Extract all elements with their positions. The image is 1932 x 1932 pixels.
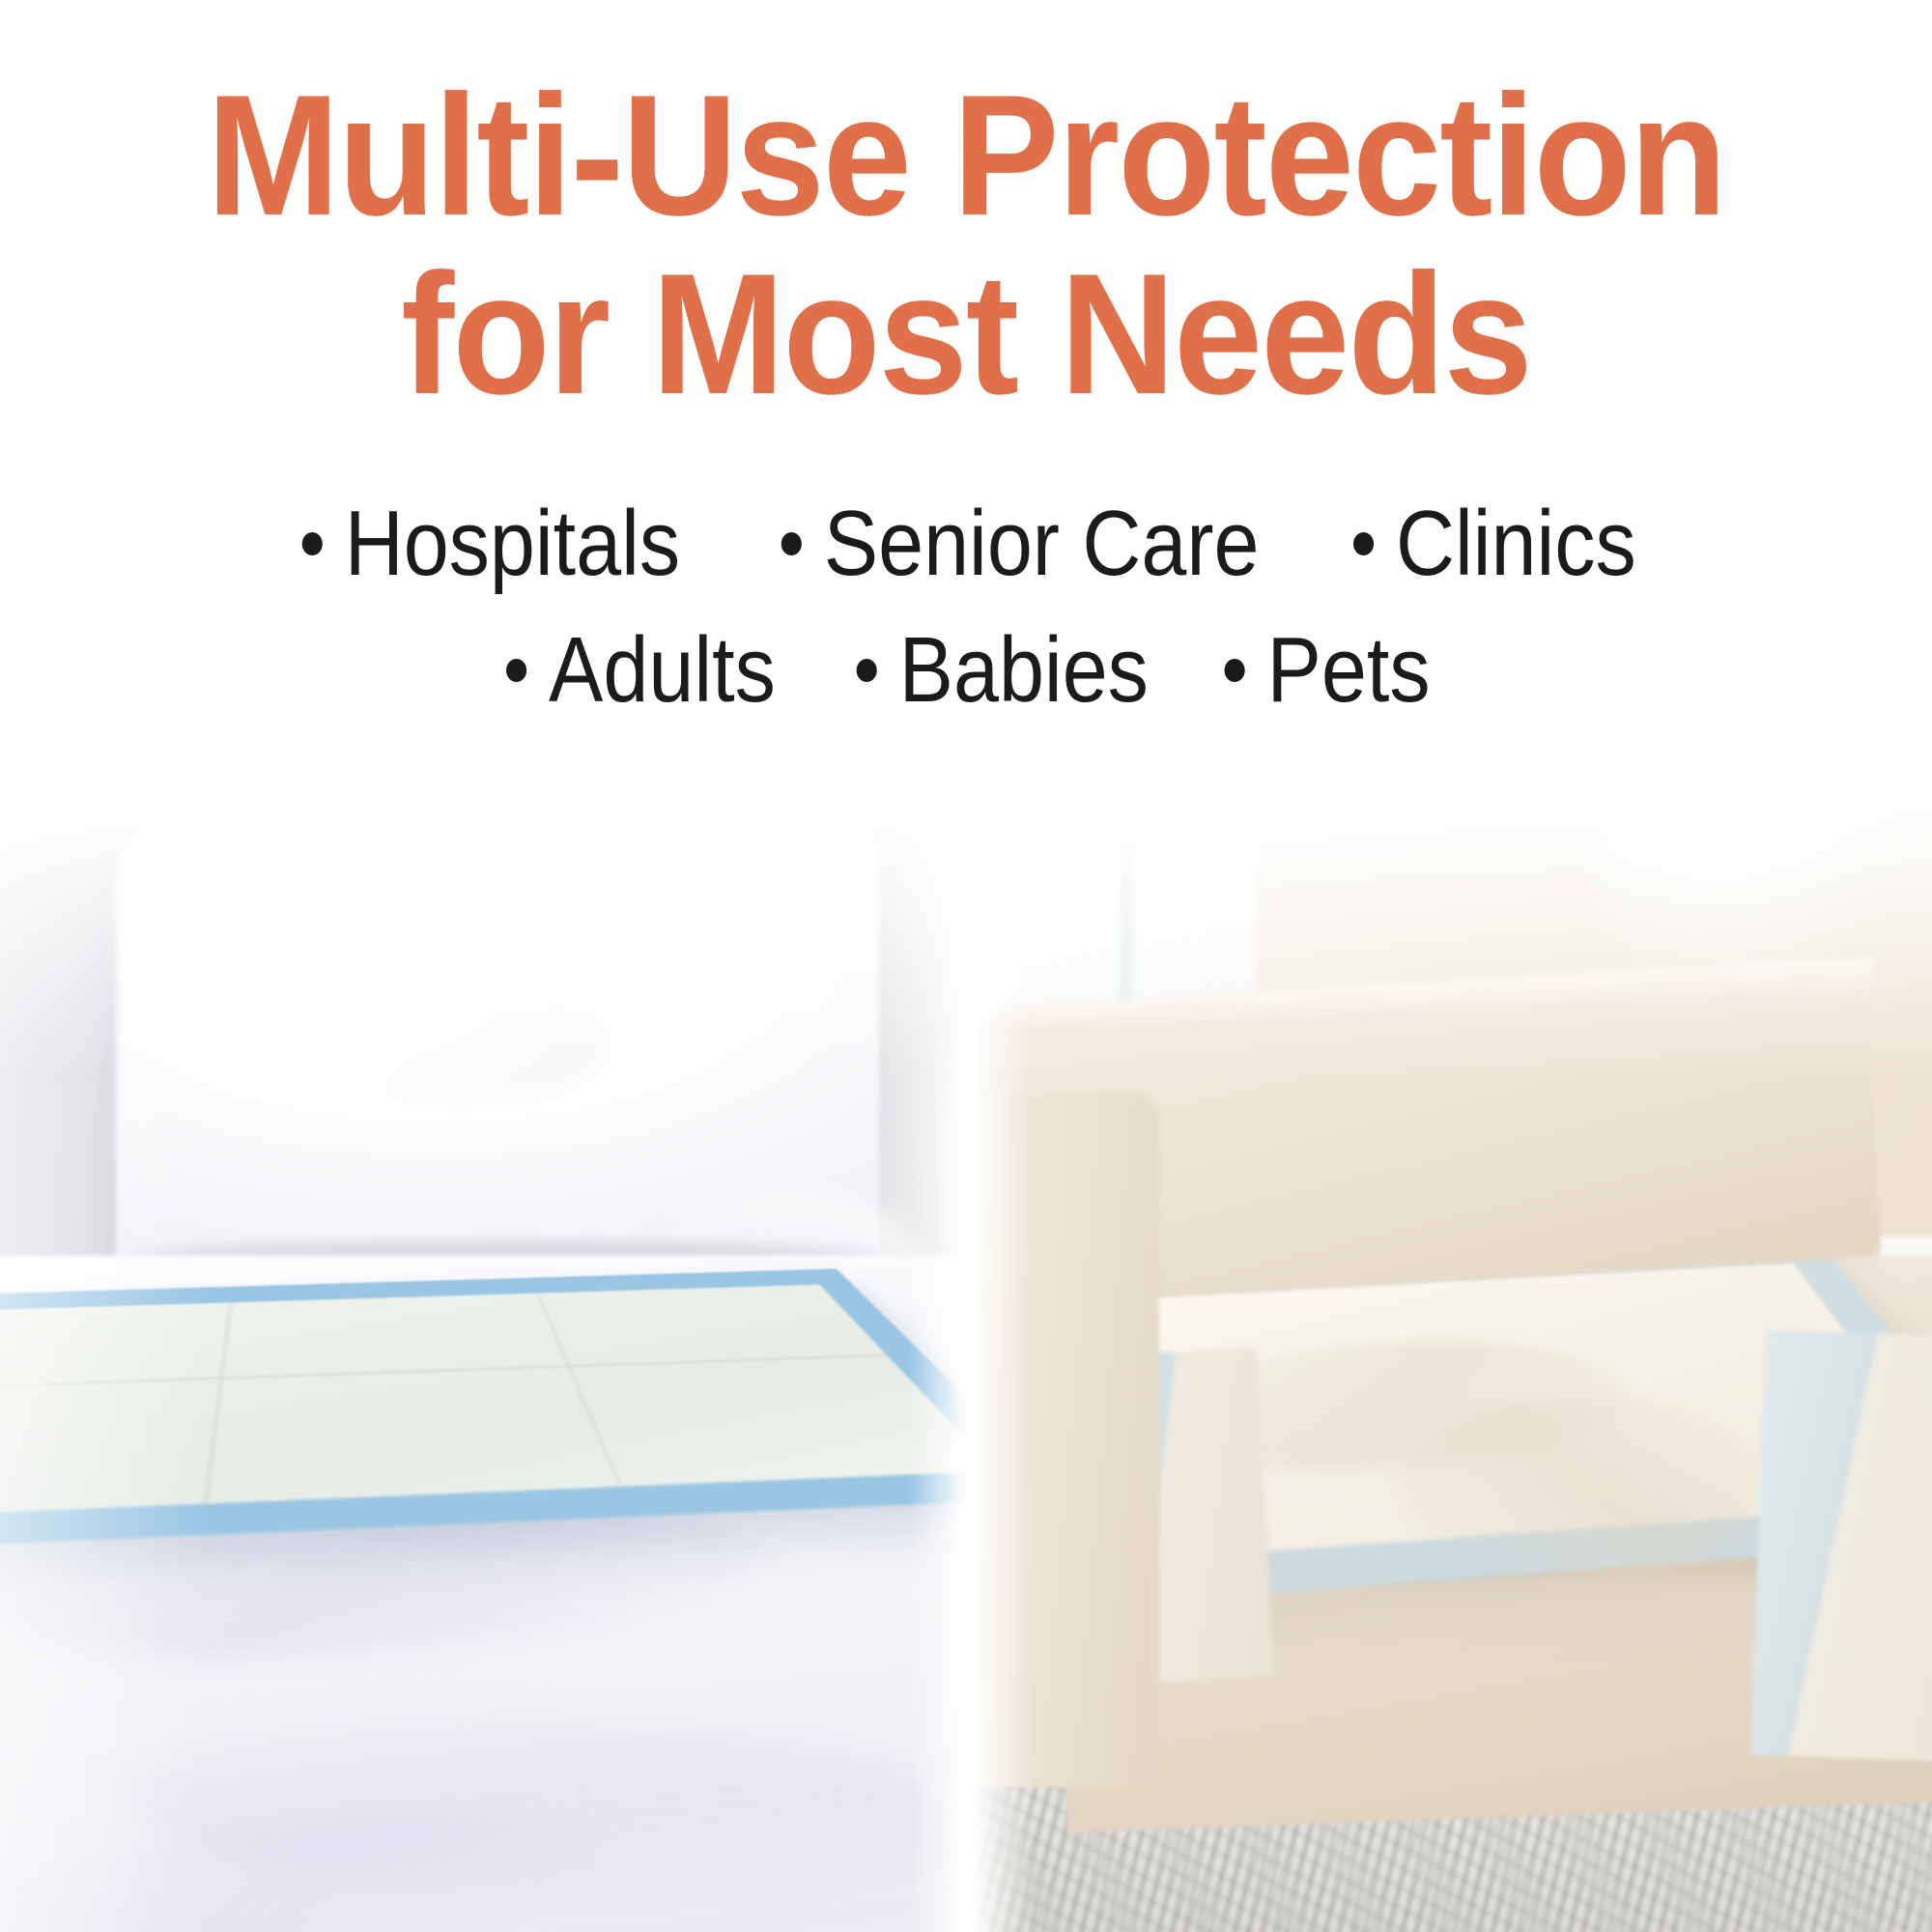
bullet-dot-icon xyxy=(856,659,876,682)
list-item: Clinics xyxy=(1353,487,1636,600)
photo-bed-underpad xyxy=(0,676,966,1932)
headline-line-2: for Most Needs xyxy=(122,244,1810,423)
list-item-label: Hospitals xyxy=(345,487,680,600)
pad-draped-edge-right xyxy=(1750,1329,1932,1761)
bullet-dot-icon xyxy=(1353,532,1374,555)
list-item-label: Babies xyxy=(898,613,1148,726)
sofa-arm-front-panel xyxy=(966,1092,1159,1787)
list-item-label: Adults xyxy=(549,613,776,726)
marketing-copy: Multi-Use Protection for Most Needs Hosp… xyxy=(0,0,1932,726)
pillow-fold-upper xyxy=(319,985,609,1101)
list-item: Adults xyxy=(506,613,776,726)
list-item: Hospitals xyxy=(302,487,680,600)
list-item-label: Clinics xyxy=(1396,487,1636,600)
bullet-dot-icon xyxy=(781,532,802,555)
pillow xyxy=(116,821,879,1275)
list-item: Pets xyxy=(1225,613,1431,726)
bullet-dot-icon xyxy=(506,659,526,682)
list-item: Senior Care xyxy=(781,487,1260,600)
photo-collage xyxy=(0,676,1932,1932)
list-item-label: Senior Care xyxy=(824,487,1260,600)
list-item: Babies xyxy=(856,613,1148,726)
bullet-dot-icon xyxy=(1225,659,1245,682)
underpad-absorbent-core xyxy=(0,1285,966,1524)
use-case-row-2: Adults Babies Pets xyxy=(0,613,1932,726)
headline-line-1: Multi-Use Protection xyxy=(122,66,1810,244)
bullet-dot-icon xyxy=(302,532,323,555)
use-case-list: Hospitals Senior Care Clinics Adults xyxy=(0,487,1932,726)
list-item-label: Pets xyxy=(1267,613,1431,726)
page-title: Multi-Use Protection for Most Needs xyxy=(68,0,1864,423)
promo-image-canvas: Multi-Use Protection for Most Needs Hosp… xyxy=(0,0,1932,1932)
photo-sofa-pad xyxy=(966,676,1932,1932)
use-case-row-1: Hospitals Senior Care Clinics xyxy=(0,487,1932,600)
